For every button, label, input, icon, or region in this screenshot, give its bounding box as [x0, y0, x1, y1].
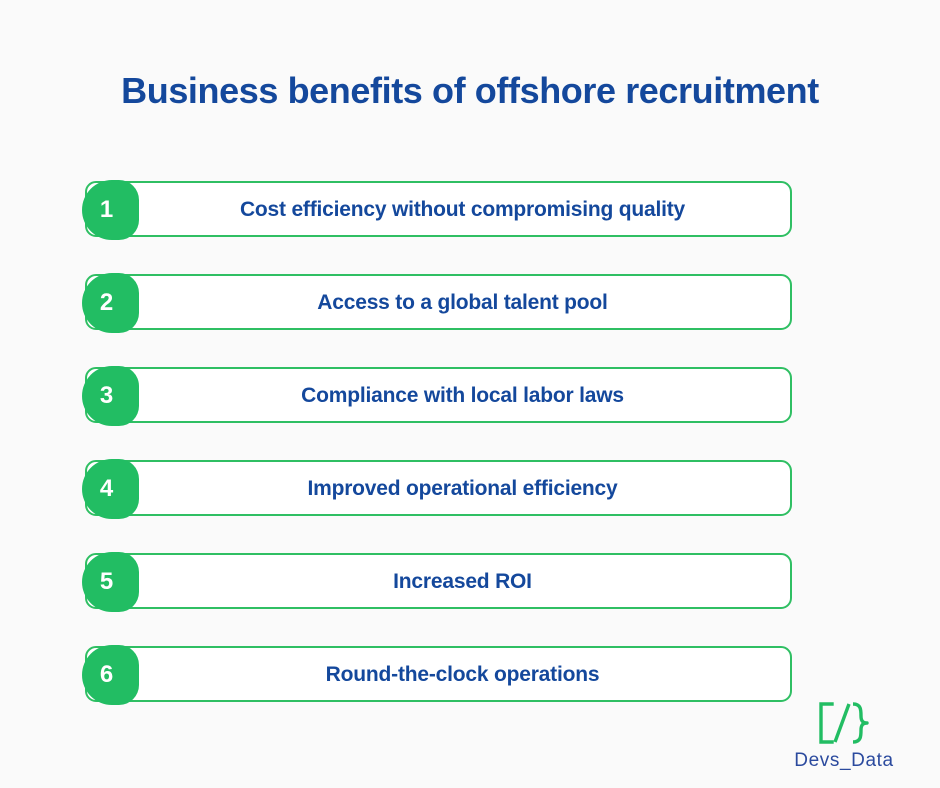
benefit-number: 1 [100, 198, 113, 222]
benefit-card[interactable]: Compliance with local labor laws [85, 367, 792, 423]
benefit-number-badge: 2 [82, 273, 139, 333]
benefit-label: Access to a global talent pool [261, 292, 615, 313]
list-item[interactable]: Cost efficiency without compromising qua… [82, 180, 792, 240]
benefit-label: Compliance with local labor laws [245, 385, 632, 406]
benefit-card[interactable]: Improved operational efficiency [85, 460, 792, 516]
benefit-label: Improved operational efficiency [251, 478, 625, 499]
benefit-card[interactable]: Increased ROI [85, 553, 792, 609]
benefit-number: 6 [100, 663, 113, 687]
list-item[interactable]: Access to a global talent pool 2 [82, 273, 792, 333]
benefit-number-badge: 4 [82, 459, 139, 519]
page-title: Business benefits of offshore recruitmen… [0, 70, 940, 112]
benefit-label: Cost efficiency without compromising qua… [184, 199, 693, 220]
benefit-card[interactable]: Round-the-clock operations [85, 646, 792, 702]
benefit-number-badge: 6 [82, 645, 139, 705]
list-item[interactable]: Increased ROI 5 [82, 552, 792, 612]
benefits-list: Cost efficiency without compromising qua… [82, 180, 792, 738]
benefit-number: 5 [100, 570, 113, 594]
benefit-label: Increased ROI [337, 571, 540, 592]
benefit-number-badge: 1 [82, 180, 139, 240]
benefit-card[interactable]: Access to a global talent pool [85, 274, 792, 330]
bracket-slash-brace-icon [813, 700, 875, 746]
benefit-number-badge: 3 [82, 366, 139, 426]
brand-logo: Devs_Data [770, 700, 918, 772]
benefit-number: 3 [100, 384, 113, 408]
list-item[interactable]: Compliance with local labor laws 3 [82, 366, 792, 426]
infographic-canvas: Business benefits of offshore recruitmen… [0, 0, 940, 788]
benefit-number: 4 [100, 477, 113, 501]
brand-name: Devs_Data [770, 750, 918, 772]
benefit-label: Round-the-clock operations [270, 664, 608, 685]
benefit-number: 2 [100, 291, 113, 315]
list-item[interactable]: Improved operational efficiency 4 [82, 459, 792, 519]
list-item[interactable]: Round-the-clock operations 6 [82, 645, 792, 705]
benefit-card[interactable]: Cost efficiency without compromising qua… [85, 181, 792, 237]
benefit-number-badge: 5 [82, 552, 139, 612]
